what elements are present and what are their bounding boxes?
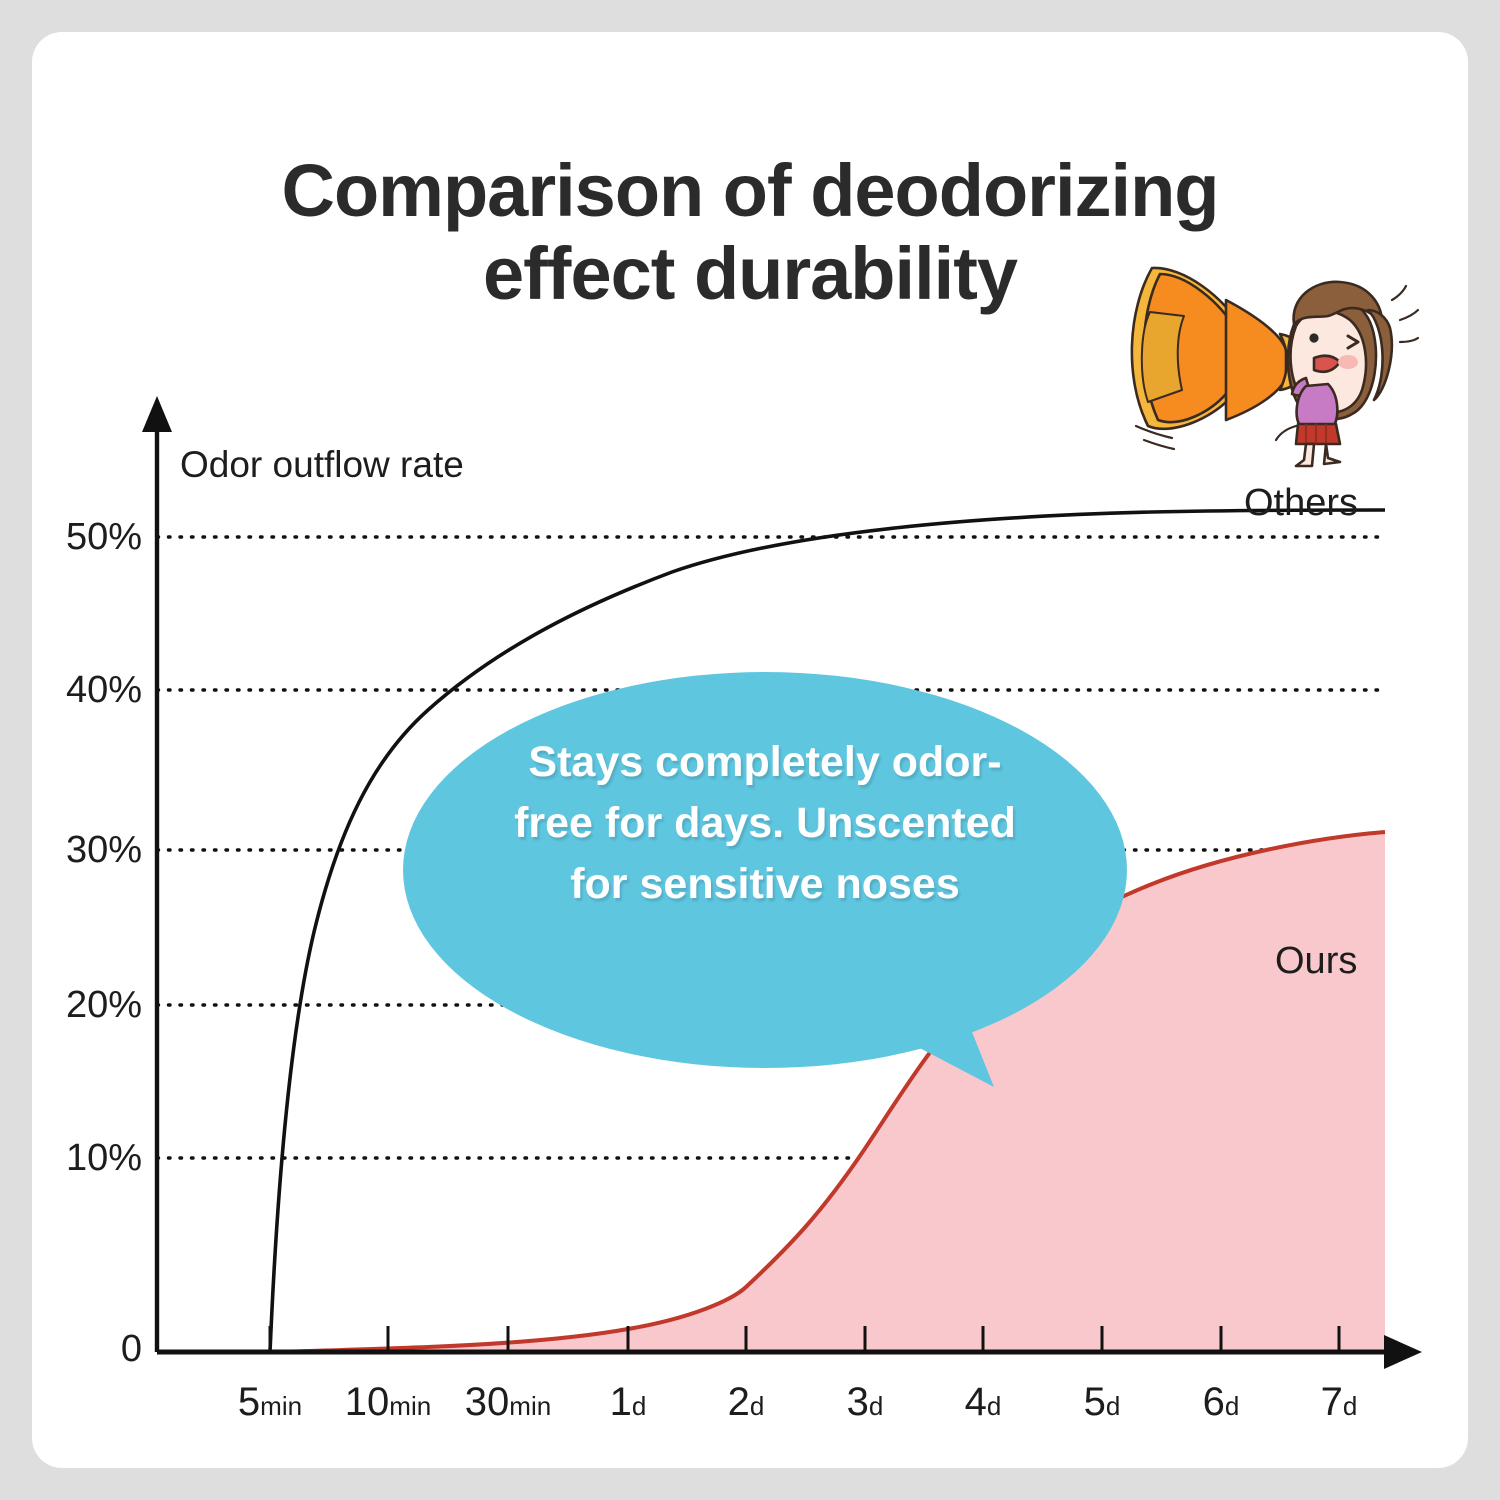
x-tick-5d-value: 5d xyxy=(1084,1380,1121,1424)
x-tick-1d-value: 1d xyxy=(610,1380,647,1424)
x-tick-4d-value: 4d xyxy=(965,1380,1002,1424)
x-tick-3d-value: 3d xyxy=(847,1380,884,1424)
y-tick-label-0: 0 xyxy=(32,1328,142,1371)
y-axis xyxy=(142,396,172,1352)
x-tick-30min-value: 30min xyxy=(465,1380,551,1424)
x-tick-6d-value: 6d xyxy=(1203,1380,1240,1424)
y-tick-label-10: 10% xyxy=(32,1137,142,1180)
y-tick-label-40: 40% xyxy=(32,669,142,712)
chart-plot xyxy=(32,32,1468,1468)
series-label-others: Others xyxy=(1244,482,1358,525)
x-tick-label-7d: 7d xyxy=(1264,1380,1414,1425)
chart-card: Comparison of deodorizing effect durabil… xyxy=(32,32,1468,1468)
series-label-ours: Ours xyxy=(1275,940,1357,983)
x-tick-2d-value: 2d xyxy=(728,1380,765,1424)
y-axis-title: Odor outflow rate xyxy=(180,444,464,486)
y-tick-label-30: 30% xyxy=(32,829,142,872)
y-tick-label-20: 20% xyxy=(32,984,142,1027)
y-tick-label-50: 50% xyxy=(32,516,142,559)
x-tick-5min-value: 5min xyxy=(238,1380,302,1424)
x-tick-7d-value: 7d xyxy=(1321,1380,1358,1424)
x-tick-10min-value: 10min xyxy=(345,1380,431,1424)
